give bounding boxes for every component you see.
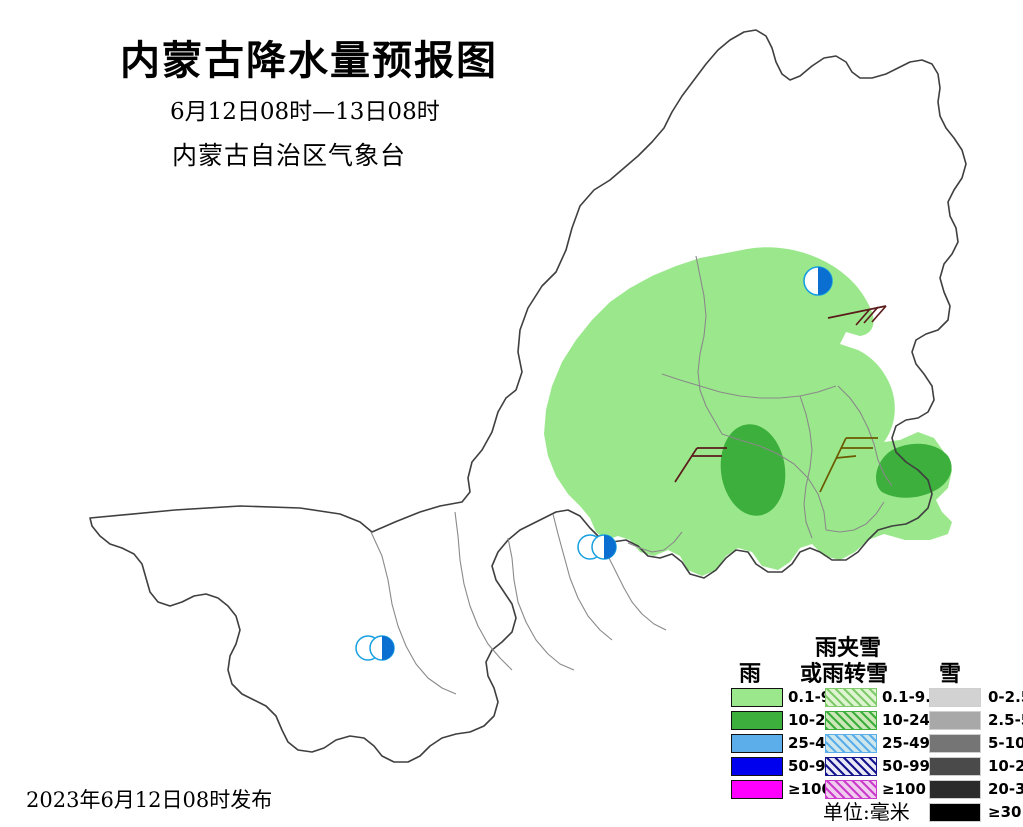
legend-item[interactable]: 25-49.9	[825, 732, 946, 754]
station-symbol-northeast[interactable]	[804, 267, 832, 295]
legend-swatch	[929, 688, 981, 707]
page-title: 内蒙古降水量预报图	[120, 28, 498, 86]
legend-swatch	[731, 711, 783, 730]
legend-swatch	[731, 688, 783, 707]
issue-timestamp: 2023年6月12日08时发布	[26, 784, 272, 814]
legend-item[interactable]: 2.5-5	[929, 709, 1023, 731]
legend-swatch	[929, 780, 981, 799]
legend-label: 20-30	[988, 780, 1023, 798]
legend-swatch	[825, 688, 877, 707]
legend-swatch	[825, 757, 877, 776]
legend-item[interactable]: 20-30	[929, 778, 1023, 800]
legend-swatch	[731, 757, 783, 776]
legend-item[interactable]: 5-10	[929, 732, 1023, 754]
legend-item[interactable]: 0-2.5	[929, 686, 1023, 708]
legend-label: ≥30	[988, 803, 1021, 821]
legend-swatch	[929, 711, 981, 730]
issuing-office: 内蒙古自治区气象台	[172, 136, 406, 172]
station-symbol-central[interactable]	[578, 535, 616, 559]
legend-title-rain: 雨	[739, 656, 761, 688]
legend-item[interactable]: 0.1-9.9	[825, 686, 946, 708]
legend-swatch	[929, 734, 981, 753]
legend-label: 5-10	[988, 734, 1023, 752]
legend-swatch	[731, 734, 783, 753]
legend-item[interactable]: 50-99.9	[825, 755, 946, 777]
legend-title-sleet-line2: 或雨转雪	[800, 656, 888, 688]
forecast-period: 6月12日08时—13日08时	[170, 92, 440, 126]
legend-label: 2.5-5	[988, 711, 1023, 729]
legend-unit: 单位:毫米	[823, 796, 910, 825]
legend: 雨 雨夹雪 或雨转雪 雪 0.1-9.9 10-24.9 25-49.9 50-…	[727, 628, 1019, 820]
legend-item[interactable]: ≥30	[929, 801, 1023, 823]
legend-swatch	[825, 711, 877, 730]
legend-swatch	[929, 757, 981, 776]
legend-column-snow: 0-2.5 2.5-5 5-10 10-20 20-30 ≥30	[929, 686, 1023, 824]
legend-swatch	[929, 803, 981, 822]
legend-title-snow: 雪	[939, 656, 961, 688]
legend-column-sleet: 0.1-9.9 10-24.9 25-49.9 50-99.9 ≥100	[825, 686, 946, 801]
legend-label: 0-2.5	[988, 688, 1023, 706]
legend-item[interactable]: 10-20	[929, 755, 1023, 777]
legend-swatch	[825, 734, 877, 753]
legend-label: 10-20	[988, 757, 1023, 775]
station-symbol-southwest[interactable]	[356, 636, 394, 660]
legend-swatch	[731, 780, 783, 799]
legend-item[interactable]: 10-24.9	[825, 709, 946, 731]
